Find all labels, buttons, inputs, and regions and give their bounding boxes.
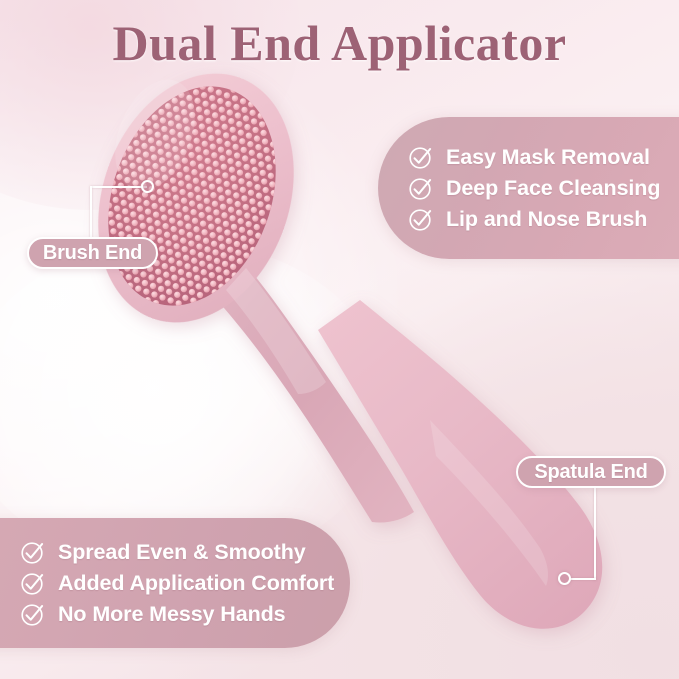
brush-end-leader-vertical	[90, 186, 92, 238]
feature-label: Added Application Comfort	[58, 571, 334, 596]
feature-item: No More Messy Hands	[20, 602, 350, 627]
feature-label: No More Messy Hands	[58, 602, 286, 627]
check-circle-icon	[408, 207, 433, 232]
product-infographic: Dual End Applicator Easy Mask Removal De…	[0, 0, 679, 679]
brush-end-features-panel: Easy Mask Removal Deep Face Cleansing Li…	[378, 117, 679, 259]
brush-end-marker-dot	[141, 180, 154, 193]
callout-brush-end-label: Brush End	[43, 242, 142, 265]
callout-spatula-end[interactable]: Spatula End	[516, 456, 666, 488]
feature-label: Lip and Nose Brush	[446, 207, 647, 232]
callout-brush-end[interactable]: Brush End	[27, 237, 158, 269]
page-title: Dual End Applicator	[0, 14, 679, 72]
check-circle-icon	[408, 145, 433, 170]
feature-label: Spread Even & Smoothy	[58, 540, 306, 565]
feature-item: Easy Mask Removal	[408, 145, 679, 170]
spatula-end-features-panel: Spread Even & Smoothy Added Application …	[0, 518, 350, 648]
feature-item: Deep Face Cleansing	[408, 176, 679, 201]
check-circle-icon	[20, 540, 45, 565]
feature-label: Easy Mask Removal	[446, 145, 650, 170]
check-circle-icon	[408, 176, 433, 201]
check-circle-icon	[20, 602, 45, 627]
check-circle-icon	[20, 571, 45, 596]
feature-label: Deep Face Cleansing	[446, 176, 660, 201]
feature-item: Added Application Comfort	[20, 571, 350, 596]
brush-end-leader-horizontal	[92, 186, 147, 188]
spatula-end-marker-dot	[558, 572, 571, 585]
spatula-end-leader-horizontal	[570, 578, 596, 580]
feature-item: Lip and Nose Brush	[408, 207, 679, 232]
feature-item: Spread Even & Smoothy	[20, 540, 350, 565]
spatula-end-leader-vertical	[594, 488, 596, 580]
callout-spatula-end-label: Spatula End	[534, 461, 647, 484]
